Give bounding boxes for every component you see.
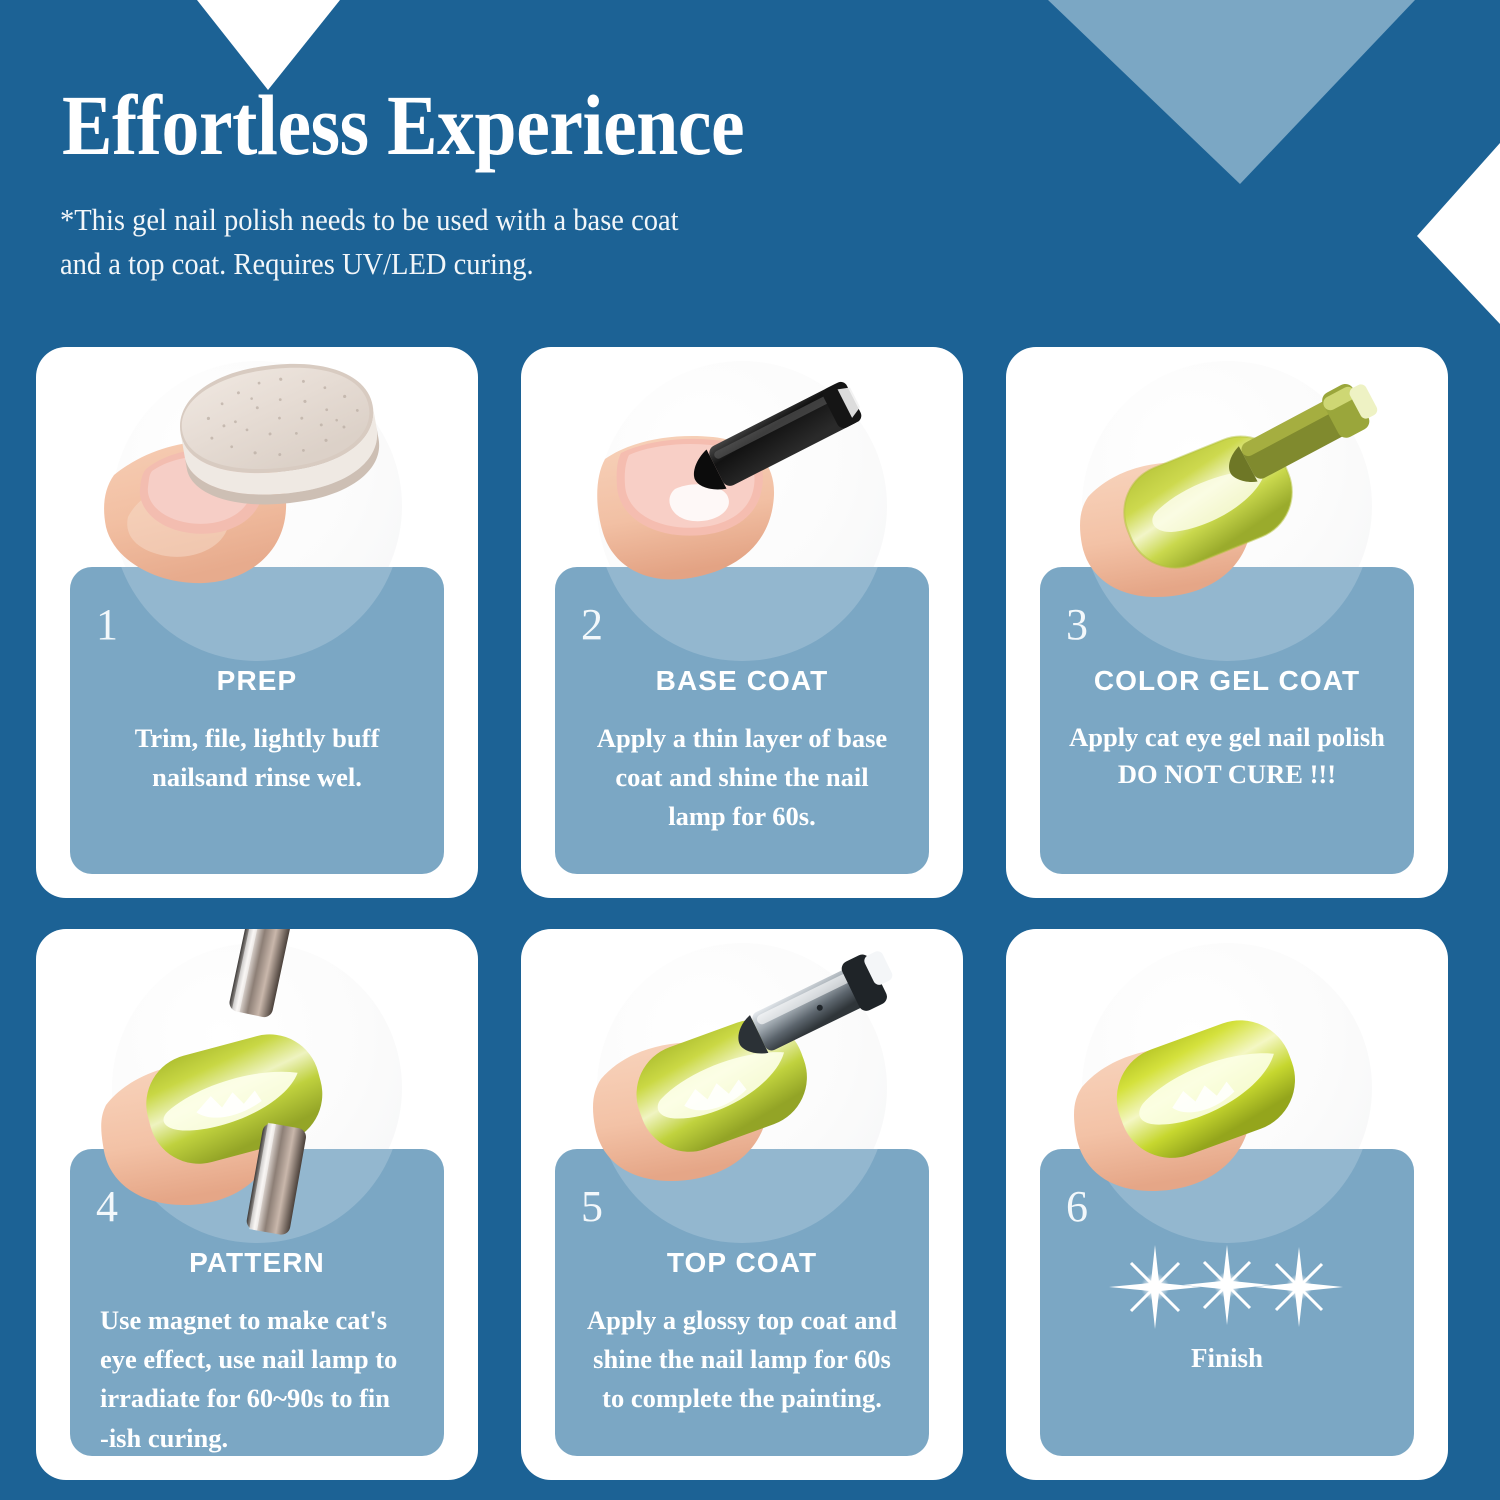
step-description: Apply a thin layer of base coat and shin… <box>579 719 905 837</box>
step-card-3[interactable]: 3 COLOR GEL COAT Apply cat eye gel nail … <box>1006 347 1448 898</box>
step-card-5[interactable]: 5 TOP COAT Apply a glossy top coat and s… <box>521 929 963 1480</box>
step-description: Trim, file, lightly buff nailsand rinse … <box>94 719 420 797</box>
step-card-2[interactable]: 2 BASE COAT Apply a thin layer of base c… <box>521 347 963 898</box>
light-blue-triangle <box>1048 0 1415 184</box>
step-description: Apply a glossy top coat and shine the na… <box>579 1301 905 1419</box>
step-card-6[interactable]: 6 <box>1006 929 1448 1480</box>
clear-brush-applying-top-coat-icon <box>521 929 963 1269</box>
black-brush-applying-base-coat-icon <box>521 347 963 687</box>
step-description: Finish <box>1064 1343 1390 1374</box>
brush-applying-green-cat-eye-gel-icon <box>1006 347 1448 687</box>
steps-grid: 1 PREP Trim, file, lightly buff nailsand… <box>36 347 1466 1480</box>
white-chevron <box>1417 143 1500 324</box>
page-title: Effortless Experience <box>62 82 744 168</box>
step-card-1[interactable]: 1 PREP Trim, file, lightly buff nailsand… <box>36 347 478 898</box>
magnet-sticks-over-green-nail-icon <box>36 929 478 1269</box>
page-subtitle: *This gel nail polish needs to be used w… <box>60 198 679 286</box>
step-description: Apply cat eye gel nail polish DO NOT CUR… <box>1064 719 1390 793</box>
step-description: Use magnet to make cat's eye effect, use… <box>94 1301 420 1456</box>
step-card-4[interactable]: 4 PATTERN Use magnet to make cat's eye e… <box>36 929 478 1480</box>
finished-glossy-green-nail-icon <box>1006 929 1448 1269</box>
nail-buffer-on-fingernail-icon <box>36 347 478 687</box>
